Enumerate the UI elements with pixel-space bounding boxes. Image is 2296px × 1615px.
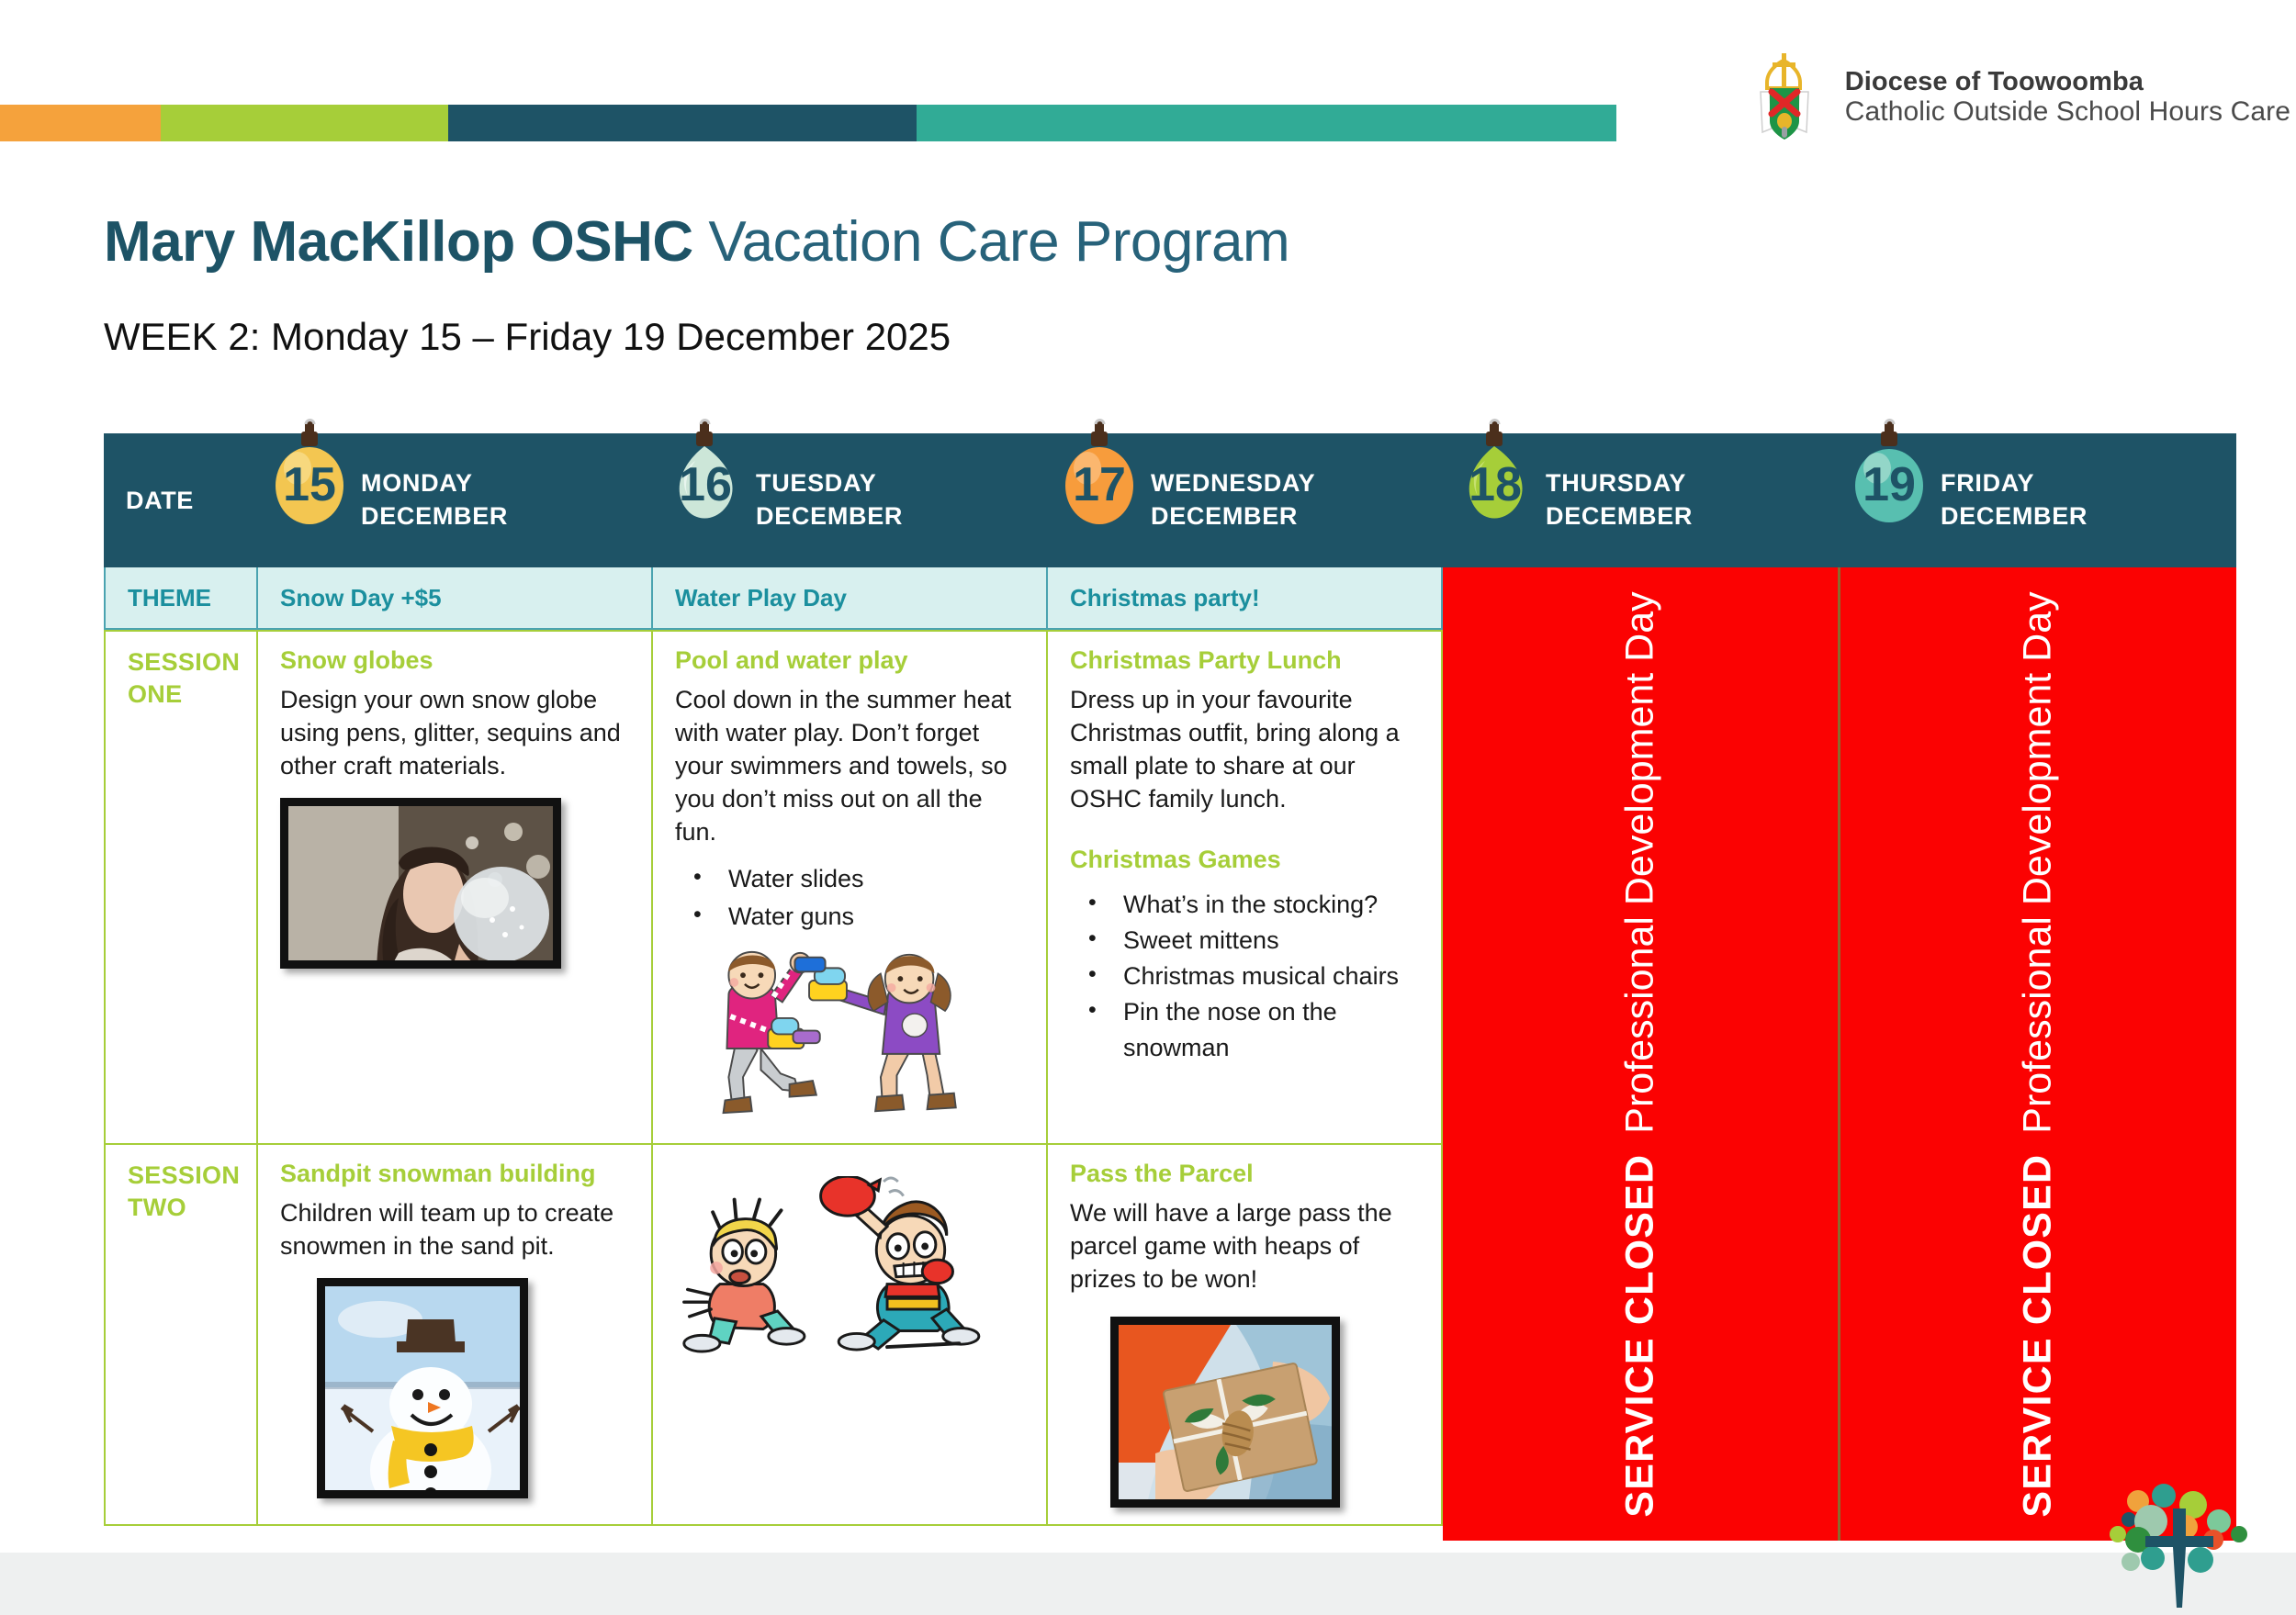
ornament-slot-1: 16 [653,433,756,567]
header-day-text-2: WEDNESDAY DECEMBER [1151,467,1315,533]
closed-column-friday-text: SERVICE CLOSED Professional Development … [2016,591,2061,1517]
ornament-teardrop-mint-icon: 16 [662,419,747,527]
header-cell-date: DATE [104,433,258,567]
page-title-bold: Mary MacKillop OSHC [104,210,693,274]
header-day-text-0: MONDAY DECEMBER [361,467,508,533]
header-cell-day-4: 19 FRIDAY DECEMBER [1838,433,2231,567]
svg-text:15: 15 [283,458,336,511]
list-item: Water slides [675,862,1026,896]
ornament-round-orange-icon: 17 [1057,419,1142,527]
theme-text-1: Water Play Day [675,584,847,612]
svg-text:18: 18 [1469,458,1522,511]
activity-body-2-1: Dress up in your favourite Christmas out… [1070,684,1421,816]
closed-column-thursday: SERVICE CLOSED Professional Development … [1443,567,1838,1541]
session-two-cell-day-1 [653,1145,1048,1526]
color-bar-segment-orange [0,105,161,141]
theme-text-2: Christmas party! [1070,584,1260,612]
session-one-cell-day-0: Snow globes Design your own snow globe u… [258,630,653,1145]
header-month-2: DECEMBER [1151,500,1315,533]
activity-body-0-1: Design your own snow globe using pens, g… [280,684,631,783]
vacation-care-program-page: Diocese of Toowoomba Catholic Outside Sc… [0,0,2296,1615]
closed-columns-divider [1838,567,1840,1541]
session-one-cell-day-2: Christmas Party Lunch Dress up in your f… [1048,630,1443,1145]
kids-with-water-balloon-clipart [675,1176,1026,1361]
page-subtitle: WEEK 2: Monday 15 – Friday 19 December 2… [104,315,951,359]
svg-text:16: 16 [679,458,732,511]
closed-main-text-friday: SERVICE CLOSED [2016,1153,2061,1517]
table-header-row: DATE 15 MONDAY DECEMBER [104,433,2236,567]
ornament-slot-0: 15 [258,433,361,567]
brand-line-1: Diocese of Toowoomba [1845,67,2290,96]
activity-body-1-1: Cool down in the summer heat with water … [675,684,1026,849]
theme-row-label-cell: THEME [104,567,258,630]
header-cell-day-1: 16 TUESDAY DECEMBER [653,433,1048,567]
activity-bullets-2-1: What’s in the stocking? Sweet mittens Ch… [1070,887,1421,1067]
color-bar-segment-teal [917,105,1616,141]
ornament-round-gold-icon: 15 [267,419,352,527]
two-kids-with-water-guns-clipart [675,943,1026,1127]
session-one-label: SESSIONONE [128,646,236,710]
closed-sub-text-friday: Professional Development Day [2016,591,2061,1133]
theme-cell-day-2: Christmas party! [1048,567,1443,630]
theme-cell-day-0: Snow Day +$5 [258,567,653,630]
theme-cell-day-1: Water Play Day [653,567,1048,630]
activity-title-2-2: Pass the Parcel [1070,1160,1421,1188]
program-table: DATE 15 MONDAY DECEMBER [104,433,2236,1526]
session-two-cell-day-0: Sandpit snowman building Children will t… [258,1145,653,1526]
list-item: Christmas musical chairs [1070,959,1421,994]
header-cell-day-3: 18 THURSDAY DECEMBER [1443,433,1838,567]
activity-title-2-1b: Christmas Games [1070,846,1421,874]
header-month-0: DECEMBER [361,500,508,533]
ornament-teardrop-green-icon: 18 [1452,419,1536,527]
header-weekday-0: MONDAY [361,467,508,500]
closed-main-text-thursday: SERVICE CLOSED [1618,1153,1663,1517]
session-two-label: SESSIONTWO [128,1160,236,1223]
ornament-slot-3: 18 [1443,433,1546,567]
hands-holding-wrapped-gift-photo [1110,1317,1340,1508]
session-one-cell-day-1: Pool and water play Cool down in the sum… [653,630,1048,1145]
list-item: Water guns [675,900,1026,934]
header-weekday-4: FRIDAY [1941,467,2088,500]
brand-line-2: Catholic Outside School Hours Care [1845,96,2290,128]
header-day-text-3: THURSDAY DECEMBER [1546,467,1693,533]
session-one-label-cell: SESSIONONE [104,630,258,1145]
page-title: Mary MacKillop OSHC Vacation Care Progra… [104,209,1289,275]
cross-with-dots-logo-icon [2098,1483,2263,1611]
activity-bullets-1-1: Water slides Water guns [675,862,1026,935]
header-month-4: DECEMBER [1941,500,2088,533]
header-day-text-4: FRIDAY DECEMBER [1941,467,2088,533]
header-weekday-3: THURSDAY [1546,467,1693,500]
date-column-label: DATE [104,487,194,515]
theme-row-label: THEME [128,584,211,612]
color-bar-segment-navy [448,105,917,141]
header-month-1: DECEMBER [756,500,903,533]
color-bar-segment-lime [161,105,448,141]
list-item: Sweet mittens [1070,923,1421,959]
closed-sub-text-thursday: Professional Development Day [1618,591,1663,1133]
ornament-slot-2: 17 [1048,433,1151,567]
diocese-brand-lockup: Diocese of Toowoomba Catholic Outside Sc… [1742,48,2290,147]
closed-column-friday: SERVICE CLOSED Professional Development … [1840,567,2236,1541]
activity-title-0-2: Sandpit snowman building [280,1160,631,1188]
header-day-text-1: TUESDAY DECEMBER [756,467,903,533]
list-item: Pin the nose on the snowman [1070,994,1421,1066]
activity-body-2-2: We will have a large pass the parcel gam… [1070,1197,1421,1296]
ornament-slot-4: 19 [1838,433,1941,567]
footer-strip [0,1553,2296,1615]
brand-color-bar [0,105,1616,141]
diocese-coat-of-arms-icon [1742,48,1827,147]
activity-title-1-1: Pool and water play [675,646,1026,675]
header-cell-day-2: 17 WEDNESDAY DECEMBER [1048,433,1443,567]
ornament-round-teal-icon: 19 [1847,419,1931,527]
theme-text-0: Snow Day +$5 [280,584,442,612]
header-month-3: DECEMBER [1546,500,1693,533]
activity-title-0-1: Snow globes [280,646,631,675]
closed-column-thursday-text: SERVICE CLOSED Professional Development … [1618,591,1663,1517]
header-cell-day-0: 15 MONDAY DECEMBER [258,433,653,567]
header-weekday-1: TUESDAY [756,467,903,500]
svg-text:19: 19 [1863,458,1916,511]
page-title-light: Vacation Care Program [693,210,1289,274]
session-two-cell-day-2: Pass the Parcel We will have a large pas… [1048,1145,1443,1526]
activity-title-2-1: Christmas Party Lunch [1070,646,1421,675]
header-weekday-2: WEDNESDAY [1151,467,1315,500]
session-two-label-cell: SESSIONTWO [104,1145,258,1526]
snowman-in-snow-photo [317,1278,528,1498]
girl-holding-snow-globe-photo [280,798,561,969]
list-item: What’s in the stocking? [1070,887,1421,923]
svg-text:17: 17 [1073,458,1126,511]
activity-body-0-2: Children will team up to create snowmen … [280,1197,631,1263]
